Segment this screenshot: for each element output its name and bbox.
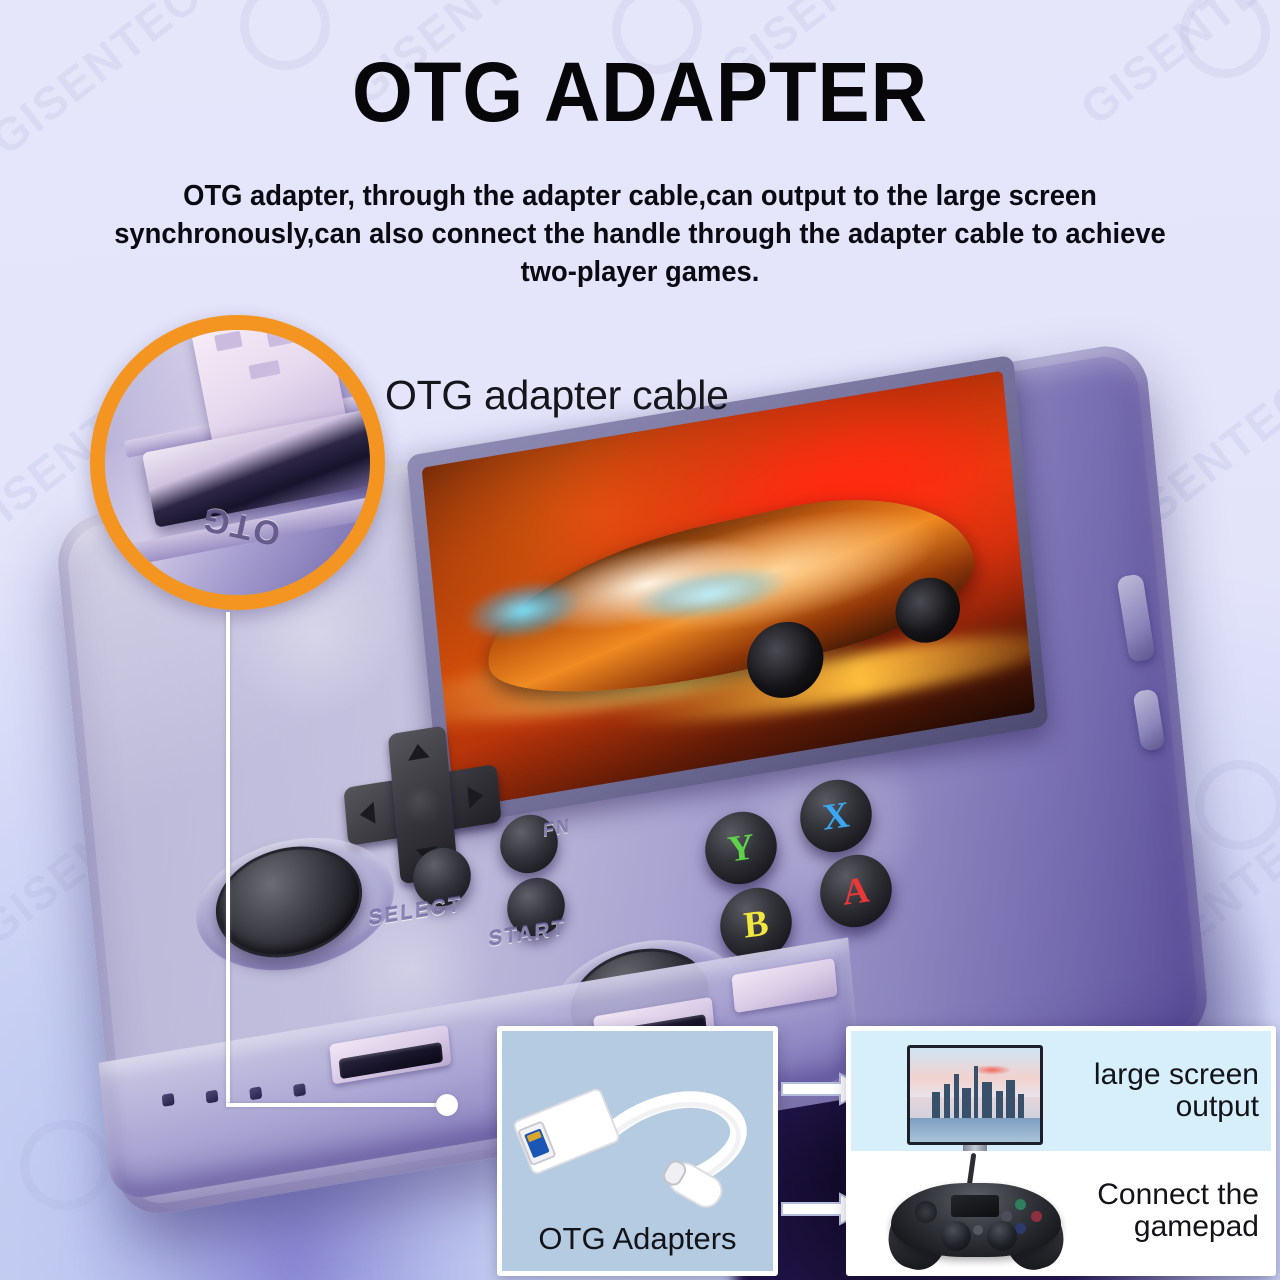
gamepad-icon (851, 1151, 1071, 1271)
screw-vent (205, 1090, 218, 1104)
connect-gamepad-caption: Connect the gamepad (1097, 1179, 1259, 1242)
monitor-building (996, 1091, 1003, 1118)
usb-shell-tab (248, 360, 280, 379)
gamepad-dpad (915, 1201, 937, 1223)
callout-leader-line-vertical (226, 612, 230, 1107)
gamepad-face-button (1015, 1199, 1026, 1210)
button-x-label: X (821, 793, 851, 840)
gamepad-right-stick (987, 1221, 1017, 1251)
monitor-building (954, 1074, 959, 1118)
otg-adapter-panel: OTG Adapters (497, 1026, 778, 1276)
gamepad-touchpad (951, 1195, 999, 1217)
screw-vent (293, 1083, 306, 1097)
page-title: OTG ADAPTER (45, 44, 1235, 141)
connect-gamepad-row: Connect the gamepad (851, 1151, 1271, 1271)
monitor-building (982, 1082, 992, 1118)
monitor-building (1018, 1094, 1024, 1118)
monitor-building (962, 1088, 971, 1118)
fn-label: FN (543, 816, 571, 842)
monitor-building (974, 1066, 978, 1118)
monitor-building (944, 1084, 950, 1118)
monitor-water (910, 1118, 1040, 1142)
callout-leader-dot (436, 1094, 458, 1116)
gamepad-caption-line1: Connect the (1097, 1178, 1259, 1211)
large-screen-caption-line2: output (1176, 1090, 1259, 1123)
large-screen-output-caption: large screen output (1094, 1059, 1259, 1122)
large-screen-caption-line1: large screen (1094, 1058, 1259, 1091)
gamepad-caption-line2: gamepad (1134, 1210, 1259, 1243)
gamepad-graphic (891, 1169, 1061, 1261)
gamepad-left-stick (941, 1221, 971, 1251)
gamepad-home-button (973, 1225, 983, 1235)
monitor-building (932, 1092, 940, 1118)
monitor-sun (972, 1065, 1012, 1075)
gamepad-face-button (1031, 1211, 1042, 1222)
monitor-screen (907, 1045, 1043, 1145)
screw-vent (162, 1093, 175, 1107)
otg-cable-label: OTG adapter cable (385, 372, 729, 419)
console-screen (421, 371, 1035, 809)
otg-adapter-cable-icon (502, 1039, 773, 1219)
page-subtitle: OTG adapter, through the adapter cable,c… (110, 178, 1170, 292)
dpad-right-icon (467, 784, 484, 808)
monitor-building (1006, 1080, 1015, 1118)
button-a-label: A (841, 868, 871, 915)
dpad-left-icon (359, 802, 376, 826)
button-y-label: Y (726, 825, 756, 872)
usb-port-shell-right (731, 958, 837, 1013)
product-infographic: GISENTEC GISENTEC GISENTEC GISENTEC GISE… (0, 0, 1280, 1280)
callout-leader-line-horizontal (226, 1103, 448, 1107)
otg-adapter-caption: OTG Adapters (502, 1221, 773, 1257)
usb-shell-tab (266, 327, 295, 348)
screw-vent (249, 1086, 262, 1100)
output-targets-panel: large screen output (846, 1026, 1276, 1276)
otg-port-magnifier: OTG (90, 315, 385, 610)
monitor-icon (851, 1031, 1071, 1151)
large-screen-output-row: large screen output (851, 1031, 1271, 1151)
usb-shell-tab (214, 331, 243, 352)
button-b-label: B (742, 901, 770, 947)
